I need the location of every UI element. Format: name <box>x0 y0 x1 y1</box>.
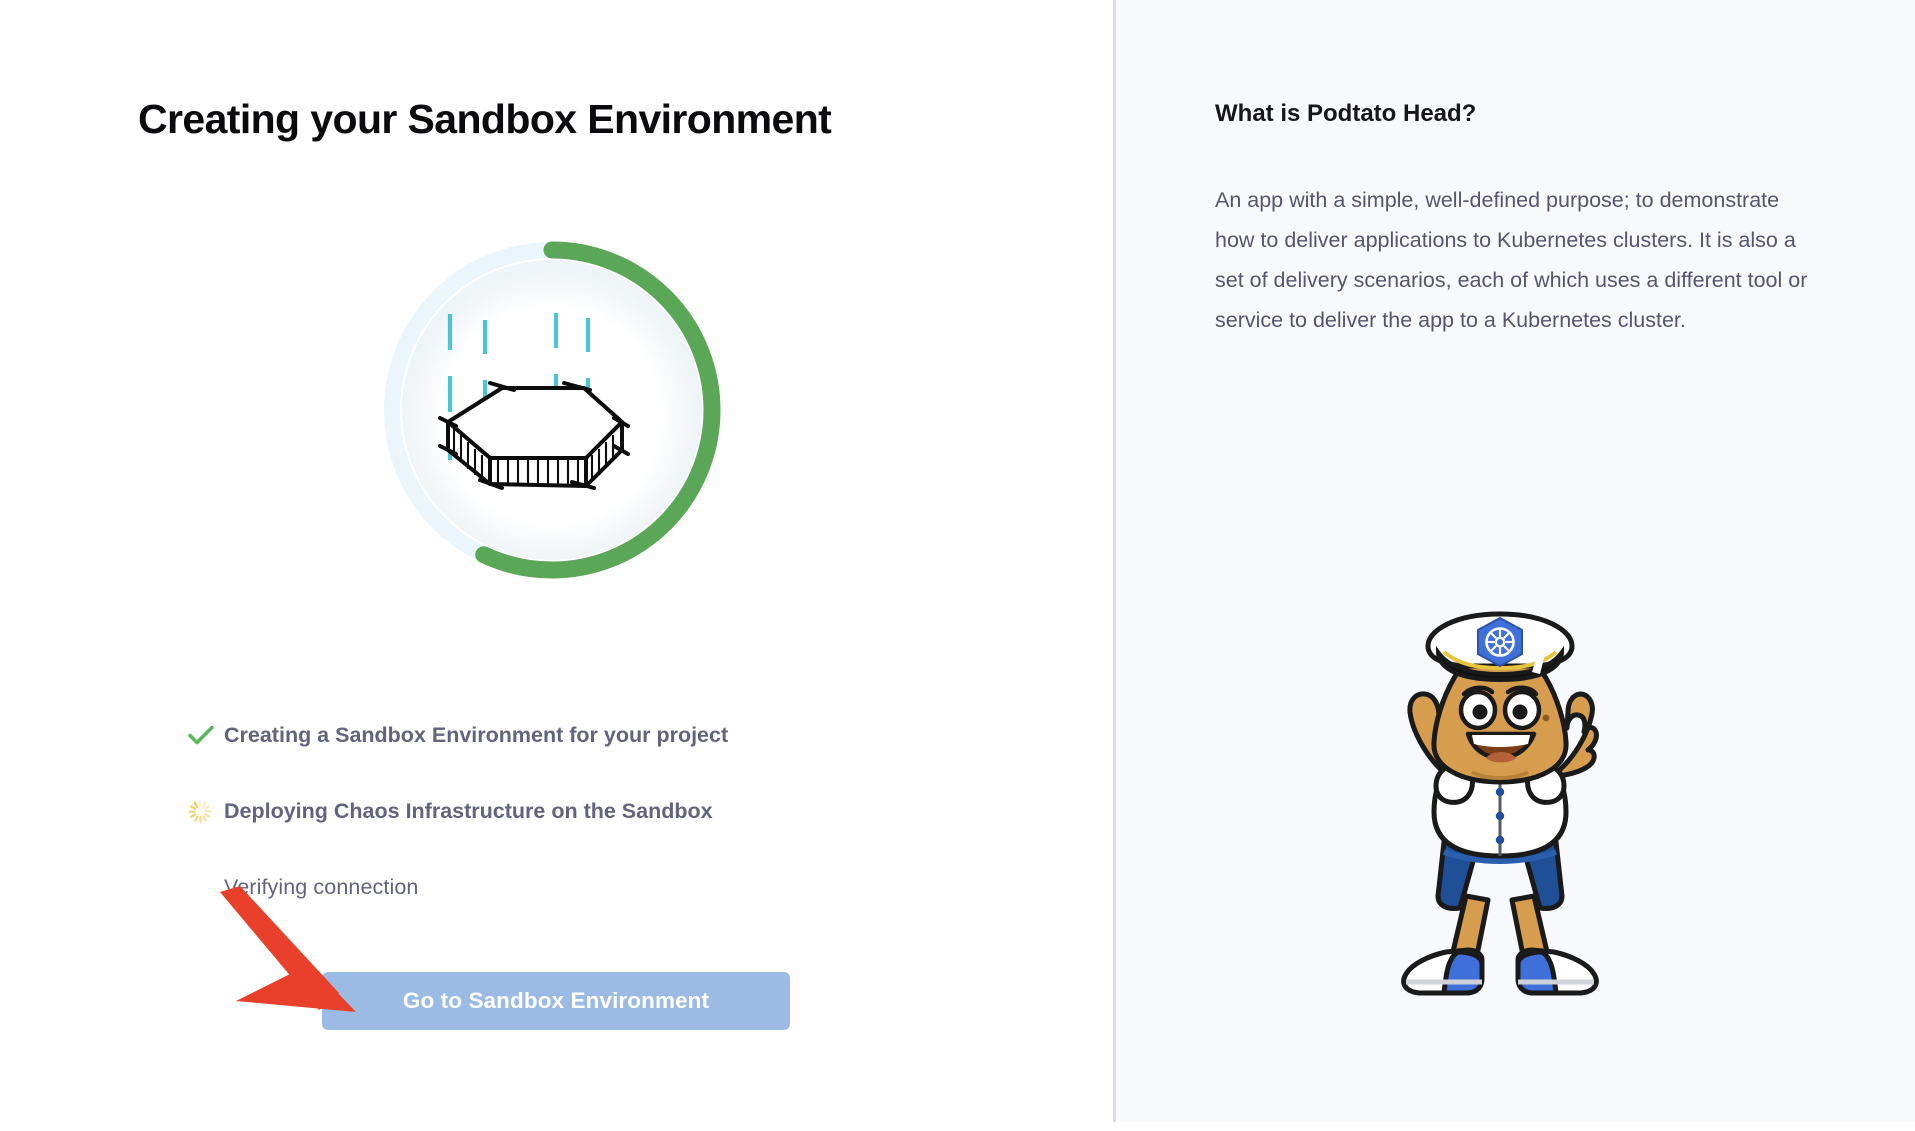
info-panel-title: What is Podtato Head? <box>1215 100 1476 128</box>
spinner-spoke <box>199 815 201 822</box>
step-label: Creating a Sandbox Environment for your … <box>224 723 728 748</box>
check-icon <box>188 722 224 748</box>
step-label: Deploying Chaos Infrastructure on the Sa… <box>224 799 713 824</box>
sandbox-illustration <box>414 272 690 548</box>
mascot-shoes <box>1404 950 1597 993</box>
left-panel: Creating your Sandbox Environment <box>0 0 1113 1131</box>
step-item-creating-sandbox: Creating a Sandbox Environment for your … <box>188 714 948 756</box>
provisioning-step-list: Creating a Sandbox Environment for your … <box>188 714 948 942</box>
step-label: Verifying connection <box>224 875 418 900</box>
step-icon-placeholder <box>188 874 224 900</box>
step-item-verifying-connection: Verifying connection <box>188 866 948 908</box>
go-to-sandbox-environment-button[interactable]: Go to Sandbox Environment <box>322 972 790 1030</box>
progress-indicator <box>368 226 736 594</box>
podtato-head-mascot <box>1340 608 1660 1008</box>
info-panel-body: An app with a simple, well-defined purpo… <box>1215 180 1819 340</box>
step-item-deploying-chaos-infrastructure: Deploying Chaos Infrastructure on the Sa… <box>188 790 948 832</box>
spinner-icon <box>188 798 224 824</box>
sandbox-provisioning-page: Creating your Sandbox Environment <box>0 0 1915 1131</box>
page-title: Creating your Sandbox Environment <box>138 96 831 143</box>
spinner-spoke <box>205 810 212 812</box>
